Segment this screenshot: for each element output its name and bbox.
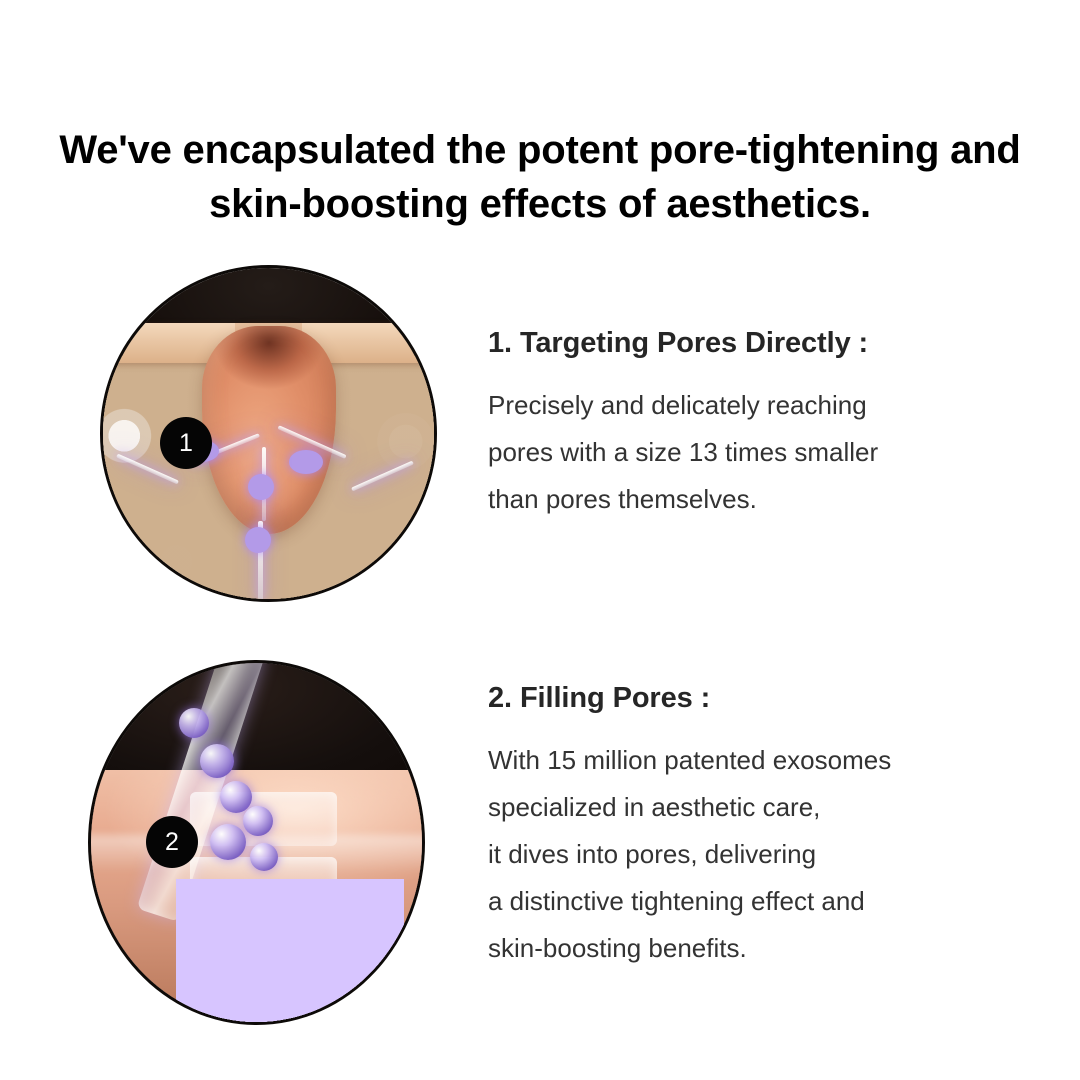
step-1-title: 1. Targeting Pores Directly : <box>488 327 1048 360</box>
exosome-cluster-icon <box>248 474 274 500</box>
body-line: skin-boosting benefits. <box>488 925 1048 972</box>
step-2-text: 2. Filling Pores : With 15 million paten… <box>488 682 1048 972</box>
pore-illustration <box>101 266 436 601</box>
step-1-body: Precisely and delicately reaching pores … <box>488 382 1048 523</box>
exosome-spray-icon <box>176 879 404 1024</box>
page-title: We've encapsulated the potent pore-tight… <box>0 123 1080 231</box>
exosome-bubble-icon <box>200 744 234 778</box>
exosome-cluster-icon <box>289 450 323 474</box>
step-2-body: With 15 million patented exosomes specia… <box>488 737 1048 972</box>
step-2-image-container: 2 <box>88 660 425 1025</box>
pore-cross-section-image <box>100 265 437 602</box>
body-line: than pores themselves. <box>488 476 1048 523</box>
body-line: a distinctive tightening effect and <box>488 878 1048 925</box>
body-line: specialized in aesthetic care, <box>488 784 1048 831</box>
infographic-page: We've encapsulated the potent pore-tight… <box>0 0 1080 1080</box>
filling-illustration <box>89 661 424 1024</box>
exosome-bubble-icon <box>210 824 246 860</box>
body-line: Precisely and delicately reaching <box>488 382 1048 429</box>
step-badge-2-label: 2 <box>165 830 179 855</box>
step-badge-1: 1 <box>160 417 212 469</box>
step-1-text: 1. Targeting Pores Directly : Precisely … <box>488 327 1048 523</box>
headline-line-1: We've encapsulated the potent pore-tight… <box>30 123 1050 177</box>
exosome-bubble-icon <box>250 843 278 871</box>
step-row-2: 2 2. Filling Pores : With 15 million pat… <box>0 660 1080 1030</box>
body-line: With 15 million patented exosomes <box>488 737 1048 784</box>
body-line: pores with a size 13 times smaller <box>488 429 1048 476</box>
step-1-image-container: 1 <box>100 265 437 602</box>
headline-line-2: skin-boosting effects of aesthetics. <box>30 177 1050 231</box>
step-badge-1-label: 1 <box>179 431 193 456</box>
body-line: it dives into pores, delivering <box>488 831 1048 878</box>
step-badge-2: 2 <box>146 816 198 868</box>
exosome-bubble-icon <box>220 781 252 813</box>
step-2-title: 2. Filling Pores : <box>488 682 1048 715</box>
pore-filling-image <box>88 660 425 1025</box>
step-row-1: 1 1. Targeting Pores Directly : Precisel… <box>0 265 1080 625</box>
